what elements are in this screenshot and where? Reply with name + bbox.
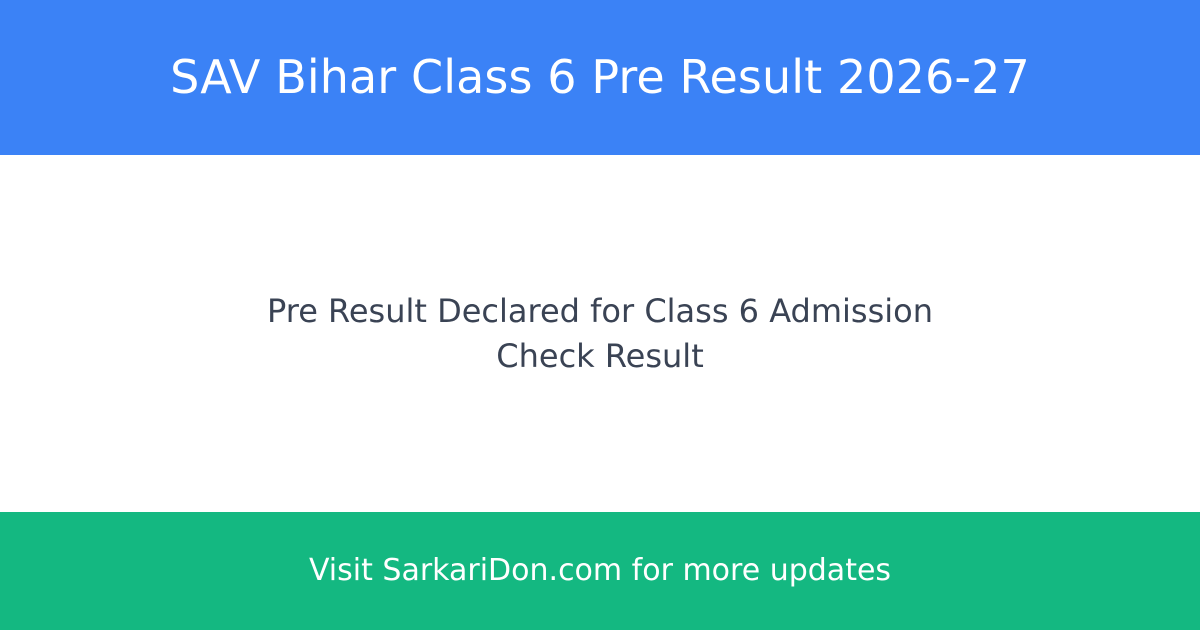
main-content: Pre Result Declared for Class 6 Admissio… [0, 155, 1200, 512]
announcement-text-block: Pre Result Declared for Class 6 Admissio… [267, 289, 933, 379]
announcement-line-2: Check Result [267, 334, 933, 379]
footer-visit-message: Visit SarkariDon.com for more updates [309, 553, 891, 589]
header-banner: SAV Bihar Class 6 Pre Result 2026-27 [0, 0, 1200, 155]
announcement-line-1: Pre Result Declared for Class 6 Admissio… [267, 289, 933, 334]
footer-banner: Visit SarkariDon.com for more updates [0, 512, 1200, 630]
page-title: SAV Bihar Class 6 Pre Result 2026-27 [170, 52, 1030, 104]
result-announcement-card: SAV Bihar Class 6 Pre Result 2026-27 Pre… [0, 0, 1200, 630]
